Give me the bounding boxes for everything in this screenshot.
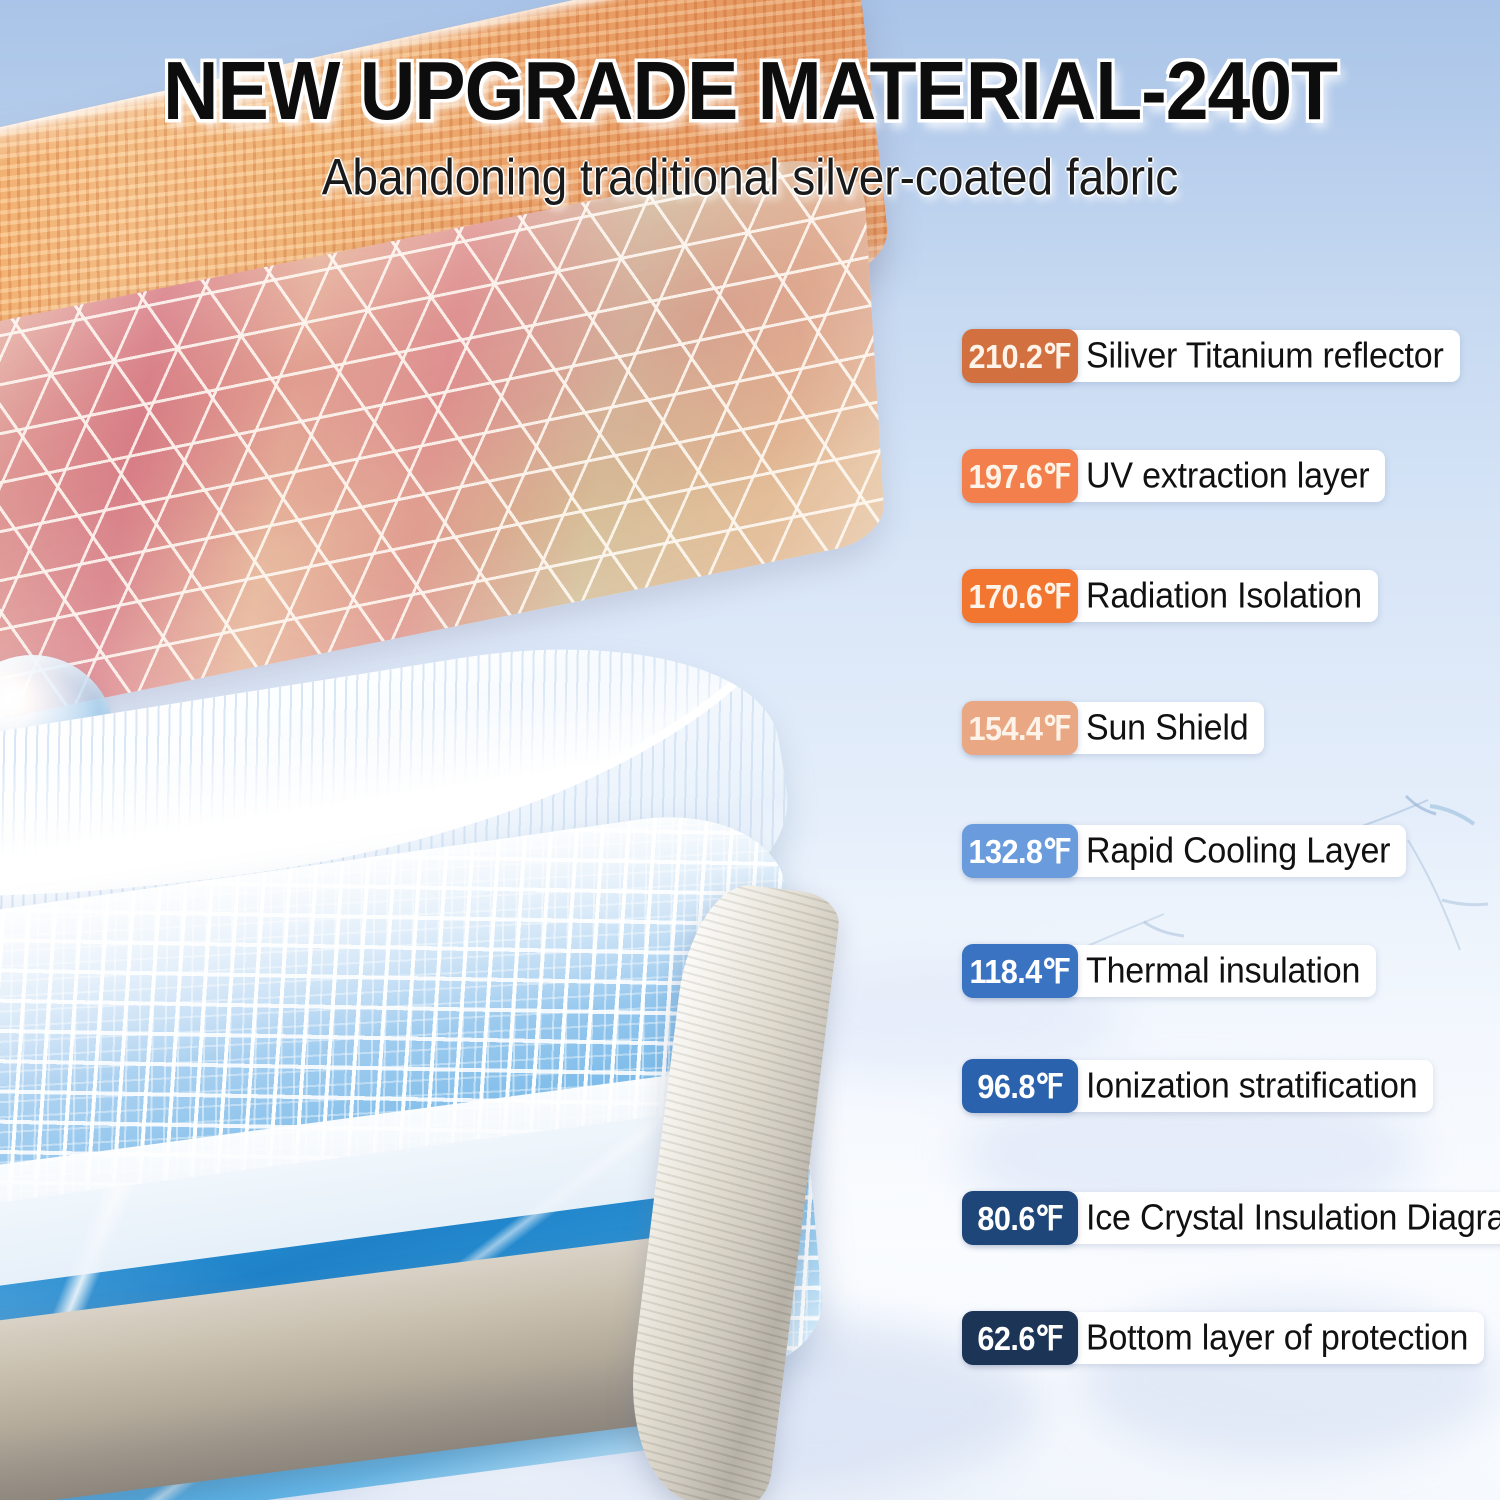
layer-name-text: Siliver Titanium reflector — [1086, 338, 1444, 374]
temperature-badge: 154.4℉ — [962, 701, 1078, 755]
temperature-value: 170.6℉ — [969, 579, 1071, 612]
product-layer-illustration — [0, 195, 1040, 1500]
layer-name-text: Bottom layer of protection — [1086, 1320, 1468, 1356]
temperature-value: 80.6℉ — [977, 1201, 1063, 1234]
page-title: NEW UPGRADE MATERIAL-240T — [0, 50, 1500, 133]
page-subtitle: Abandoning traditional silver-coated fab… — [0, 152, 1500, 203]
temperature-value: 132.8℉ — [969, 834, 1071, 867]
header-block: NEW UPGRADE MATERIAL-240T Abandoning tra… — [0, 54, 1500, 200]
temperature-badge: 210.2℉ — [962, 329, 1078, 383]
temperature-value: 118.4℉ — [970, 954, 1071, 987]
temperature-badge: 96.8℉ — [962, 1059, 1078, 1113]
temperature-badge: 197.6℉ — [962, 449, 1078, 503]
ice-crystal-wisp-icon — [1390, 830, 1500, 960]
temperature-badge: 170.6℉ — [962, 569, 1078, 623]
temperature-value: 96.8℉ — [977, 1069, 1063, 1102]
temperature-badge: 62.6℉ — [962, 1311, 1078, 1365]
temperature-value: 197.6℉ — [969, 459, 1071, 492]
temperature-value: 154.4℉ — [969, 711, 1071, 744]
temperature-value: 210.2℉ — [969, 339, 1071, 372]
temperature-value: 62.6℉ — [977, 1321, 1063, 1354]
infographic-canvas: NEW UPGRADE MATERIAL-240T Abandoning tra… — [0, 0, 1500, 1500]
temperature-badge: 118.4℉ — [962, 944, 1078, 998]
layer-name-text: Radiation Isolation — [1086, 578, 1362, 614]
layer-name-text: UV extraction layer — [1086, 458, 1369, 494]
temperature-badge: 80.6℉ — [962, 1191, 1078, 1245]
layer-name-text: Sun Shield — [1086, 710, 1248, 746]
layer-name-text: Rapid Cooling Layer — [1086, 833, 1390, 869]
layer-name-text: Ice Crystal Insulation Diagram — [1086, 1200, 1500, 1236]
temperature-badge: 132.8℉ — [962, 824, 1078, 878]
layer-name-text: Ionization stratification — [1086, 1068, 1417, 1104]
layer-name-text: Thermal insulation — [1086, 953, 1360, 989]
